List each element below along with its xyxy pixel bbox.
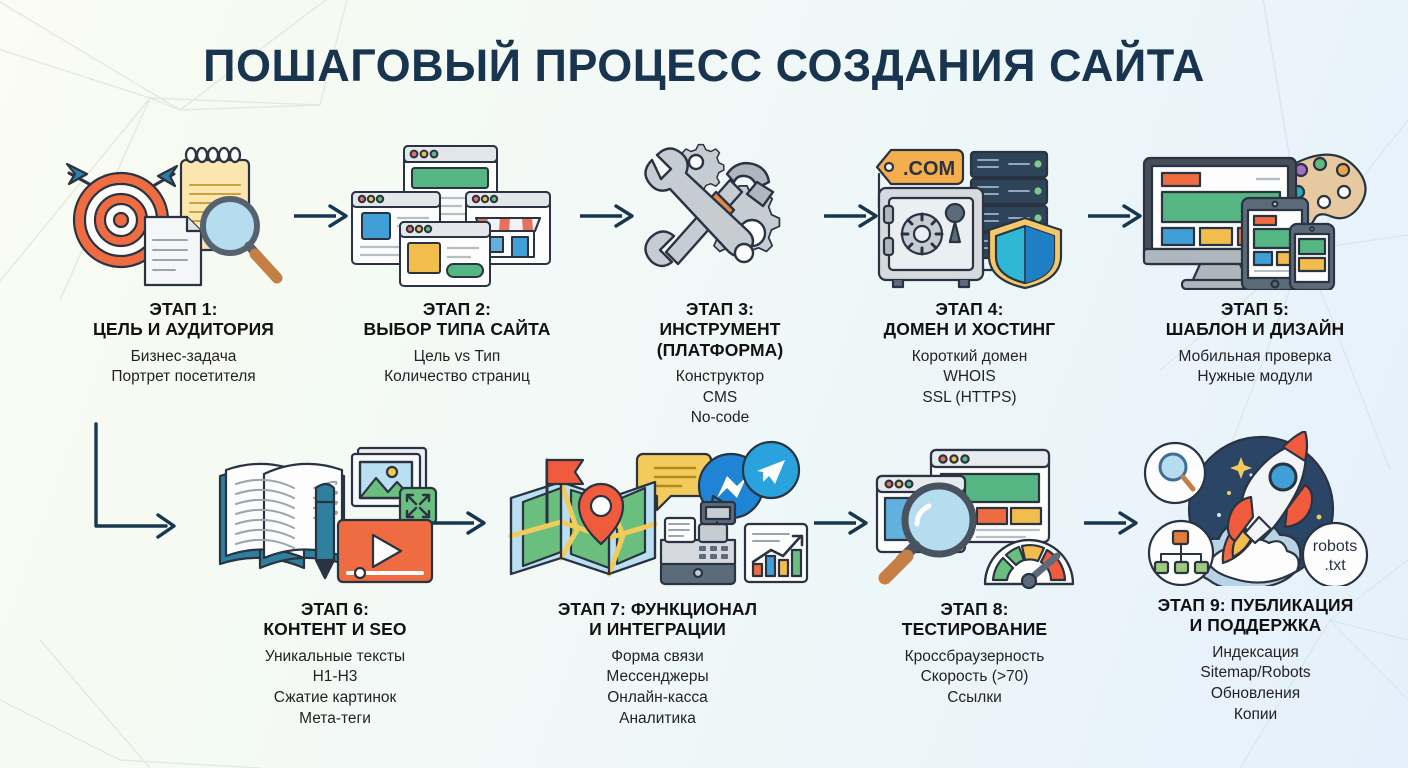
arrow-6-to-7 <box>430 510 492 541</box>
step-2-title: ЭТАП 2: ВЫБОР ТИПА САЙТА <box>332 299 582 340</box>
step-6-subtitle: Уникальные тексты H1-H3 Сжатие картинок … <box>195 647 475 730</box>
safe-server-shield-domain-tag-icon: .COM <box>867 140 1072 290</box>
step-4-title: ЭТАП 4: ДОМЕН И ХОСТИНГ <box>862 299 1077 340</box>
step-7-title: ЭТАП 7: ФУНКЦИОНАЛ И ИНТЕГРАЦИИ <box>500 599 815 640</box>
book-pen-images-video-icon <box>210 440 460 590</box>
page-title: ПОШАГОВЫЙ ПРОЦЕСС СОЗДАНИЯ САЙТА <box>0 40 1408 92</box>
step-3: ЭТАП 3: ИНСТРУМЕНТ (ПЛАТФОРМА) Конструкт… <box>620 140 820 429</box>
robots-badge-line1: robots <box>1313 538 1357 555</box>
step-9: robots .txt ЭТАП 9: ПУБЛИКАЦИЯ И ПОДДЕРЖ… <box>1118 436 1393 726</box>
step-8-icon-wrap <box>862 440 1087 590</box>
domain-tag-label: .COM <box>903 158 955 180</box>
step-3-title: ЭТАП 3: ИНСТРУМЕНТ (ПЛАТФОРМА) <box>620 299 820 360</box>
infographic-canvas: ПОШАГОВЫЙ ПРОЦЕСС СОЗДАНИЯ САЙТА <box>0 0 1408 768</box>
step-2-icon-wrap <box>332 140 582 290</box>
step-2-subtitle: Цель vs Тип Количество страниц <box>332 347 582 389</box>
rocket-launch-seo-badges-icon: robots .txt <box>1133 431 1378 586</box>
robots-badge-line2: .txt <box>1324 557 1346 574</box>
step-5-icon-wrap <box>1124 140 1386 290</box>
responsive-devices-palette-icon <box>1138 140 1373 290</box>
step-3-icon-wrap <box>620 140 820 290</box>
step-9-title: ЭТАП 9: ПУБЛИКАЦИЯ И ПОДДЕРЖКА <box>1118 595 1393 636</box>
step-5-subtitle: Мобильная проверка Нужные модули <box>1124 347 1386 389</box>
step-8: ЭТАП 8: ТЕСТИРОВАНИЕ Кроссбраузерность С… <box>862 440 1087 709</box>
step-5: ЭТАП 5: ШАБЛОН И ДИЗАЙН Мобильная провер… <box>1124 140 1386 388</box>
step-4-icon-wrap: .COM <box>862 140 1077 290</box>
step-8-subtitle: Кроссбраузерность Скорость (>70) Ссылки <box>862 647 1087 709</box>
browser-windows-storefront-icon <box>342 140 572 290</box>
step-7-subtitle: Форма связи Мессенджеры Онлайн-касса Ана… <box>500 647 815 730</box>
browser-magnifier-speedometer-icon <box>867 440 1082 590</box>
wrench-hammer-gears-icon <box>630 140 810 290</box>
step-7: ЭТАП 7: ФУНКЦИОНАЛ И ИНТЕГРАЦИИ Форма св… <box>500 440 815 730</box>
step-8-title: ЭТАП 8: ТЕСТИРОВАНИЕ <box>862 599 1087 640</box>
step-5-title: ЭТАП 5: ШАБЛОН И ДИЗАЙН <box>1124 299 1386 340</box>
step-3-subtitle: Конструктор CMS No-code <box>620 367 820 429</box>
map-chat-messengers-register-analytics-icon <box>505 440 810 590</box>
target-document-magnifier-icon <box>59 140 309 290</box>
step-6-title: ЭТАП 6: КОНТЕНТ И SEO <box>195 599 475 640</box>
step-4: .COM <box>862 140 1077 409</box>
elbow-connector-row1-to-row2 <box>84 420 194 550</box>
step-4-subtitle: Короткий домен WHOIS SSL (HTTPS) <box>862 347 1077 409</box>
step-1-title: ЭТАП 1: ЦЕЛЬ И АУДИТОРИЯ <box>46 299 321 340</box>
step-1-subtitle: Бизнес-задача Портрет посетителя <box>46 347 321 389</box>
step-1: ЭТАП 1: ЦЕЛЬ И АУДИТОРИЯ Бизнес-задача П… <box>46 140 321 388</box>
step-1-icon-wrap <box>46 140 321 290</box>
step-2: ЭТАП 2: ВЫБОР ТИПА САЙТА Цель vs Тип Кол… <box>332 140 582 388</box>
step-9-subtitle: Индексация Sitemap/Robots Обновления Коп… <box>1118 643 1393 726</box>
step-9-icon-wrap: robots .txt <box>1118 436 1393 586</box>
step-7-icon-wrap <box>500 440 815 590</box>
step-6: ЭТАП 6: КОНТЕНТ И SEO Уникальные тексты … <box>195 440 475 730</box>
